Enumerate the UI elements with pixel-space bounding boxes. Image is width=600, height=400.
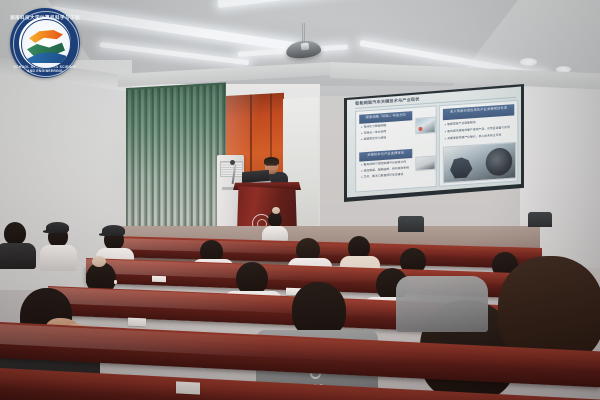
slide-bullet: 芯片、算法与数据闭环生态建设 [361,172,403,179]
slide-header-a: 国家战略「四化」布局方向 [359,111,412,124]
slide-photo-components [415,155,435,171]
slide-bullet: 车路云一体化协同 [361,129,386,135]
earbud-icon [114,280,117,284]
slide-bullet: 智能驾驶产业政策解读 [445,120,476,126]
student-head [4,222,26,245]
ac-label [222,187,234,190]
slide-panel-left: 国家战略「四化」布局方向 电动化与智能网联 车路云一体化协同 高精度定位与感知 … [355,105,437,192]
slide-bullet: 关键零部件国产化替代，核心技术自主可控 [445,133,501,141]
green-window-curtains [126,84,226,235]
slide-bullet: 电动化与智能网联 [361,123,386,129]
emblem-core [21,19,71,69]
university-college-emblem: 湖南科技大学计算机科学与工程学院 SCHOOL OF COMPUTER SCIE… [10,8,80,78]
emblem-orange-swoosh-icon [29,30,63,45]
slide-panel-right: 无人驾驶示范应用及产业发展规划专项 智能驾驶产业政策解读 面向城市道路的量产落地… [439,100,519,187]
baseball-cap [46,222,69,233]
handout-paper [152,276,166,282]
presenter-hair [264,157,279,165]
presentation-slide: 湖南科技大学 智能网联汽车关键技术与产业现状 国家战略「四化」布局方向 电动化与… [347,86,521,198]
slide-bullet: 高精度定位与感知 [361,135,386,141]
baseball-cap [102,225,125,236]
microphone-head-icon [230,160,235,165]
eyeglasses-icon [266,165,277,169]
projection-screen: 湖南科技大学 智能网联汽车关键技术与产业现状 国家战略「四化」布局方向 电动化与… [347,86,521,198]
student-torso [396,276,488,332]
auditorium-seat-back [398,216,424,232]
student-head [268,212,282,227]
lecture-hall-photo: 湖南科技大学 智能网联汽车关键技术与产业现状 国家战略「四化」布局方向 电动化与… [0,0,600,400]
slide-photo-conference [415,117,435,135]
hair-clip [92,256,106,267]
student-torso [0,243,36,269]
hair-bun [272,207,280,214]
slide-header-c: 无人驾驶示范应用及产业发展规划专项 [443,104,514,120]
slide-photo-delegation [443,142,516,184]
ceiling-downlight [520,58,537,66]
handout-paper [128,318,146,327]
student-torso [40,245,77,271]
auditorium-seat-back [528,212,552,227]
projector-lens-icon [301,43,310,51]
handout-paper [176,381,200,394]
